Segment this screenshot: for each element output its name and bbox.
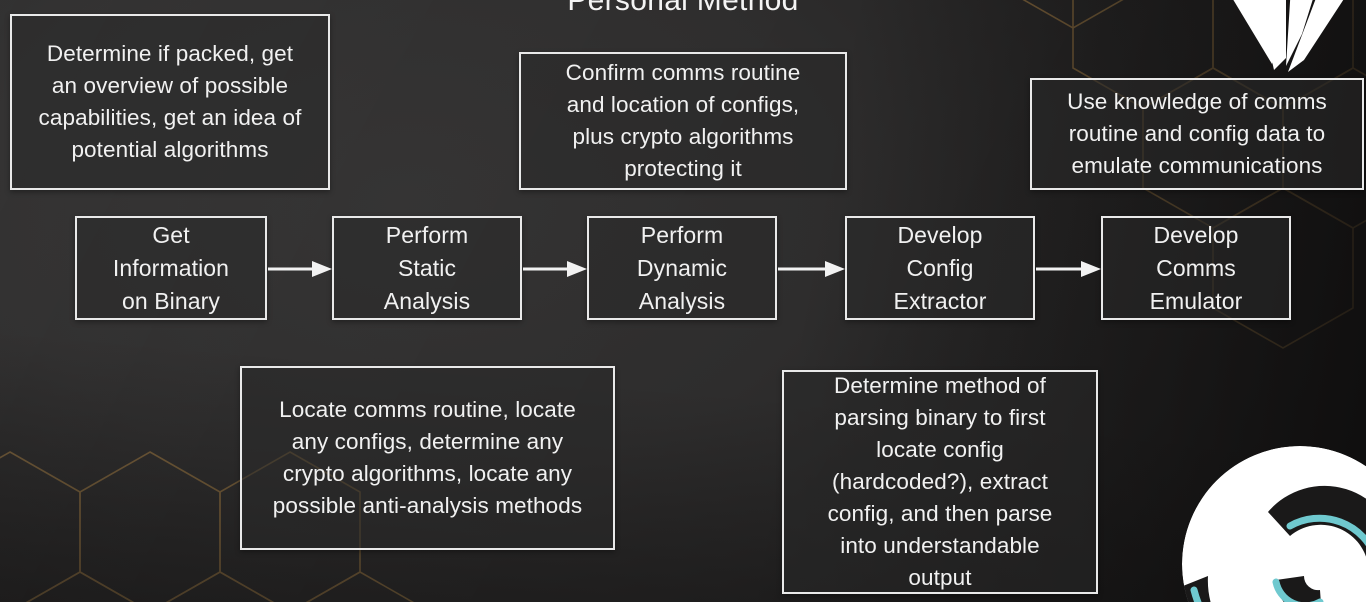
note-text: Locate comms routine, locate any configs… <box>242 394 613 522</box>
step-perform-dynamic-analysis[interactable]: Perform Dynamic Analysis <box>587 216 777 320</box>
step-perform-static-analysis[interactable]: Perform Static Analysis <box>332 216 522 320</box>
note-text: Determine if packed, get an overview of … <box>12 38 328 166</box>
note-text: Use knowledge of comms routine and confi… <box>1032 86 1362 182</box>
slide-canvas: Personal Method Determine if packed, get… <box>0 0 1366 602</box>
note-text: Confirm comms routine and location of co… <box>521 57 845 185</box>
step-develop-config-extractor[interactable]: Develop Config Extractor <box>845 216 1035 320</box>
note-dynamic-context: Confirm comms routine and location of co… <box>519 52 847 190</box>
note-text: Determine method of parsing binary to fi… <box>784 370 1096 594</box>
note-config-extractor-detail: Determine method of parsing binary to fi… <box>782 370 1098 594</box>
step-label: Perform Static Analysis <box>334 219 520 318</box>
step-label: Get Information on Binary <box>77 219 265 318</box>
step-develop-comms-emulator[interactable]: Develop Comms Emulator <box>1101 216 1291 320</box>
step-get-information-on-binary[interactable]: Get Information on Binary <box>75 216 267 320</box>
note-comms-emulator-context: Use knowledge of comms routine and confi… <box>1030 78 1364 190</box>
step-label: Develop Comms Emulator <box>1103 219 1289 318</box>
note-static-context: Determine if packed, get an overview of … <box>10 14 330 190</box>
note-static-analysis-detail: Locate comms routine, locate any configs… <box>240 366 615 550</box>
step-label: Develop Config Extractor <box>847 219 1033 318</box>
step-label: Perform Dynamic Analysis <box>589 219 775 318</box>
